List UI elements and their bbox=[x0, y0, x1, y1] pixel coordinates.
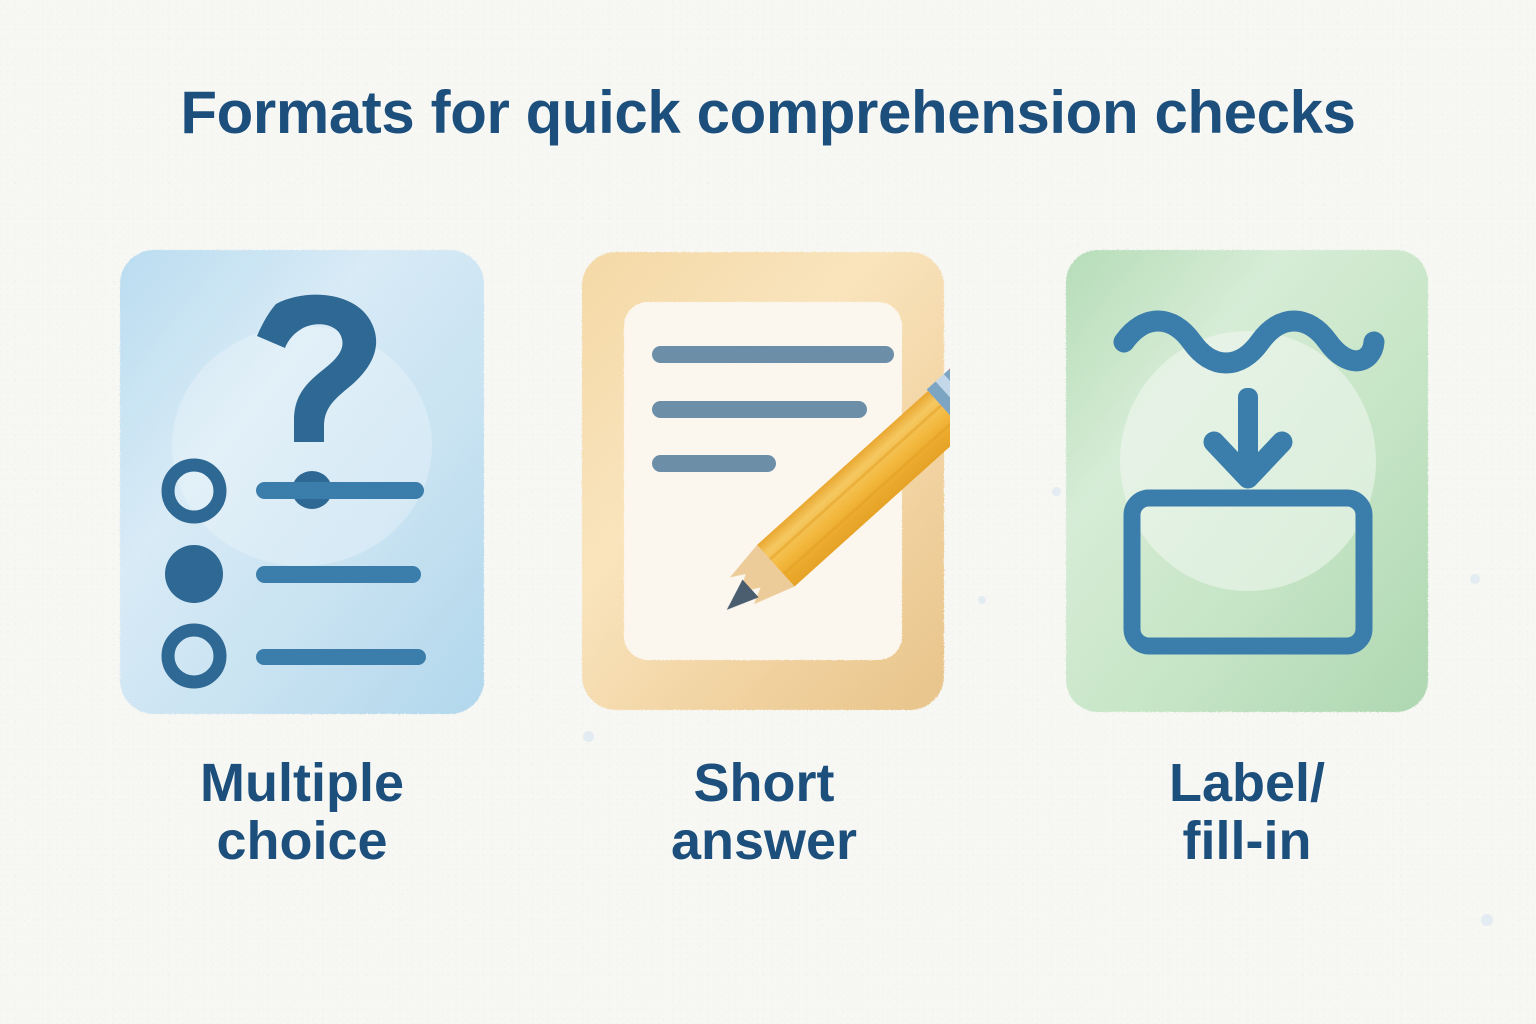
paper-speckle bbox=[978, 596, 986, 604]
card-short-answer[interactable]: Short answer bbox=[578, 246, 950, 871]
card-multiple-choice[interactable]: Multiple choice bbox=[116, 246, 488, 871]
paper-speckle bbox=[1481, 914, 1493, 926]
card-label-label-fill-in: Label/ fill-in bbox=[1062, 754, 1432, 871]
paper-speckle bbox=[1052, 487, 1061, 496]
card-label-multiple-choice: Multiple choice bbox=[116, 754, 488, 871]
multiple-choice-icon bbox=[116, 246, 488, 718]
short-answer-icon bbox=[578, 246, 950, 718]
infographic-poster: Formats for quick comprehension checks bbox=[0, 0, 1536, 1024]
label-fill-in-icon bbox=[1062, 246, 1432, 718]
paper-speckle bbox=[1470, 574, 1480, 584]
page-title: Formats for quick comprehension checks bbox=[0, 78, 1536, 147]
card-label-fill-in[interactable]: Label/ fill-in bbox=[1062, 246, 1432, 871]
card-label-short-answer: Short answer bbox=[578, 754, 950, 871]
